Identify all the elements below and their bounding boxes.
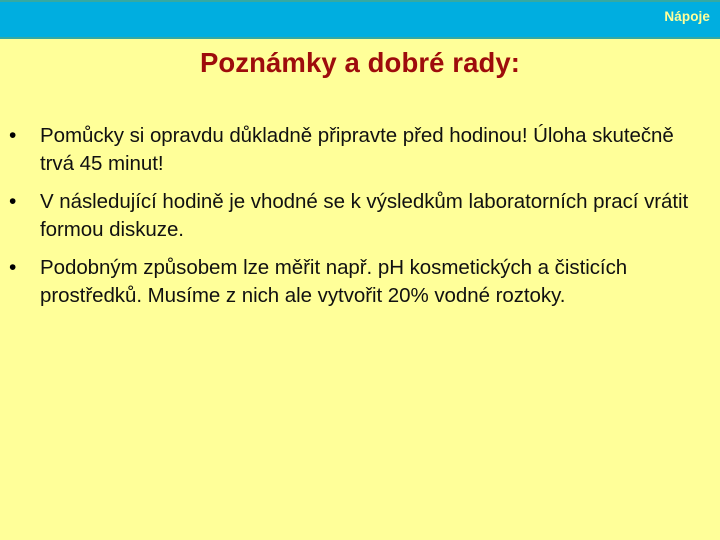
bullet-dot-icon: • bbox=[9, 188, 25, 215]
list-item-text: V následující hodině je vhodné se k výsl… bbox=[40, 190, 688, 241]
bullet-dot-icon: • bbox=[9, 254, 25, 281]
slide-canvas: Nápoje Poznámky a dobré rady: • Pomůcky … bbox=[0, 0, 720, 540]
bullet-dot-icon: • bbox=[9, 122, 25, 149]
header-section-label: Nápoje bbox=[664, 9, 710, 24]
list-item: • Podobným způsobem lze měřit např. pH k… bbox=[0, 254, 720, 309]
slide-header-band: Nápoje bbox=[0, 0, 720, 39]
bullet-list: • Pomůcky si opravdu důkladně připravte … bbox=[0, 122, 720, 320]
page-title: Poznámky a dobré rady: bbox=[0, 47, 720, 79]
list-item: • Pomůcky si opravdu důkladně připravte … bbox=[0, 122, 720, 177]
list-item: • V následující hodině je vhodné se k vý… bbox=[0, 188, 720, 243]
list-item-text: Pomůcky si opravdu důkladně připravte př… bbox=[40, 124, 674, 175]
list-item-text: Podobným způsobem lze měřit např. pH kos… bbox=[40, 256, 627, 307]
